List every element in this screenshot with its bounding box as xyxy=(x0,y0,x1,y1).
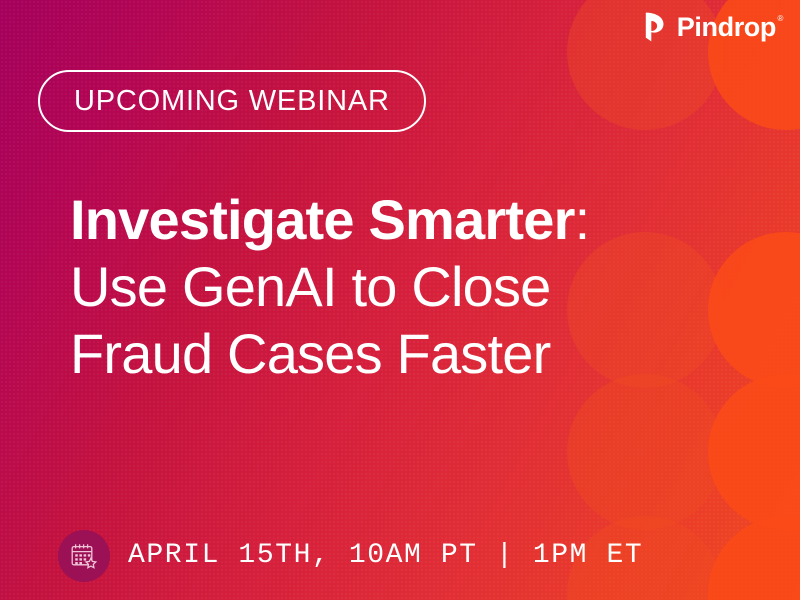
pindrop-droplet-icon xyxy=(642,12,668,42)
headline-line-3: Fraud Cases Faster xyxy=(70,320,589,387)
headline: Investigate Smarter: Use GenAI to Close … xyxy=(70,186,589,387)
event-datetime-text: APRIL 15TH, 10AM PT | 1PM ET xyxy=(128,542,643,570)
upcoming-webinar-badge: UPCOMING WEBINAR xyxy=(38,70,426,132)
calendar-star-icon xyxy=(58,530,110,582)
event-datetime-row: APRIL 15TH, 10AM PT | 1PM ET xyxy=(58,530,643,582)
badge-label: UPCOMING WEBINAR xyxy=(74,87,390,116)
headline-line-1: Investigate Smarter: xyxy=(70,186,589,253)
webinar-promo-banner: Pindrop® UPCOMING WEBINAR Investigate Sm… xyxy=(0,0,800,600)
pindrop-logo: Pindrop® xyxy=(642,12,776,42)
headline-line-1-text: Investigate Smarter xyxy=(70,188,575,251)
pindrop-wordmark: Pindrop® xyxy=(677,14,776,41)
trademark-symbol: ® xyxy=(778,15,784,23)
pindrop-wordmark-text: Pindrop xyxy=(677,12,776,42)
banner-content: Pindrop® UPCOMING WEBINAR Investigate Sm… xyxy=(0,0,800,600)
headline-line-2: Use GenAI to Close xyxy=(70,253,589,320)
headline-colon: : xyxy=(575,188,590,251)
